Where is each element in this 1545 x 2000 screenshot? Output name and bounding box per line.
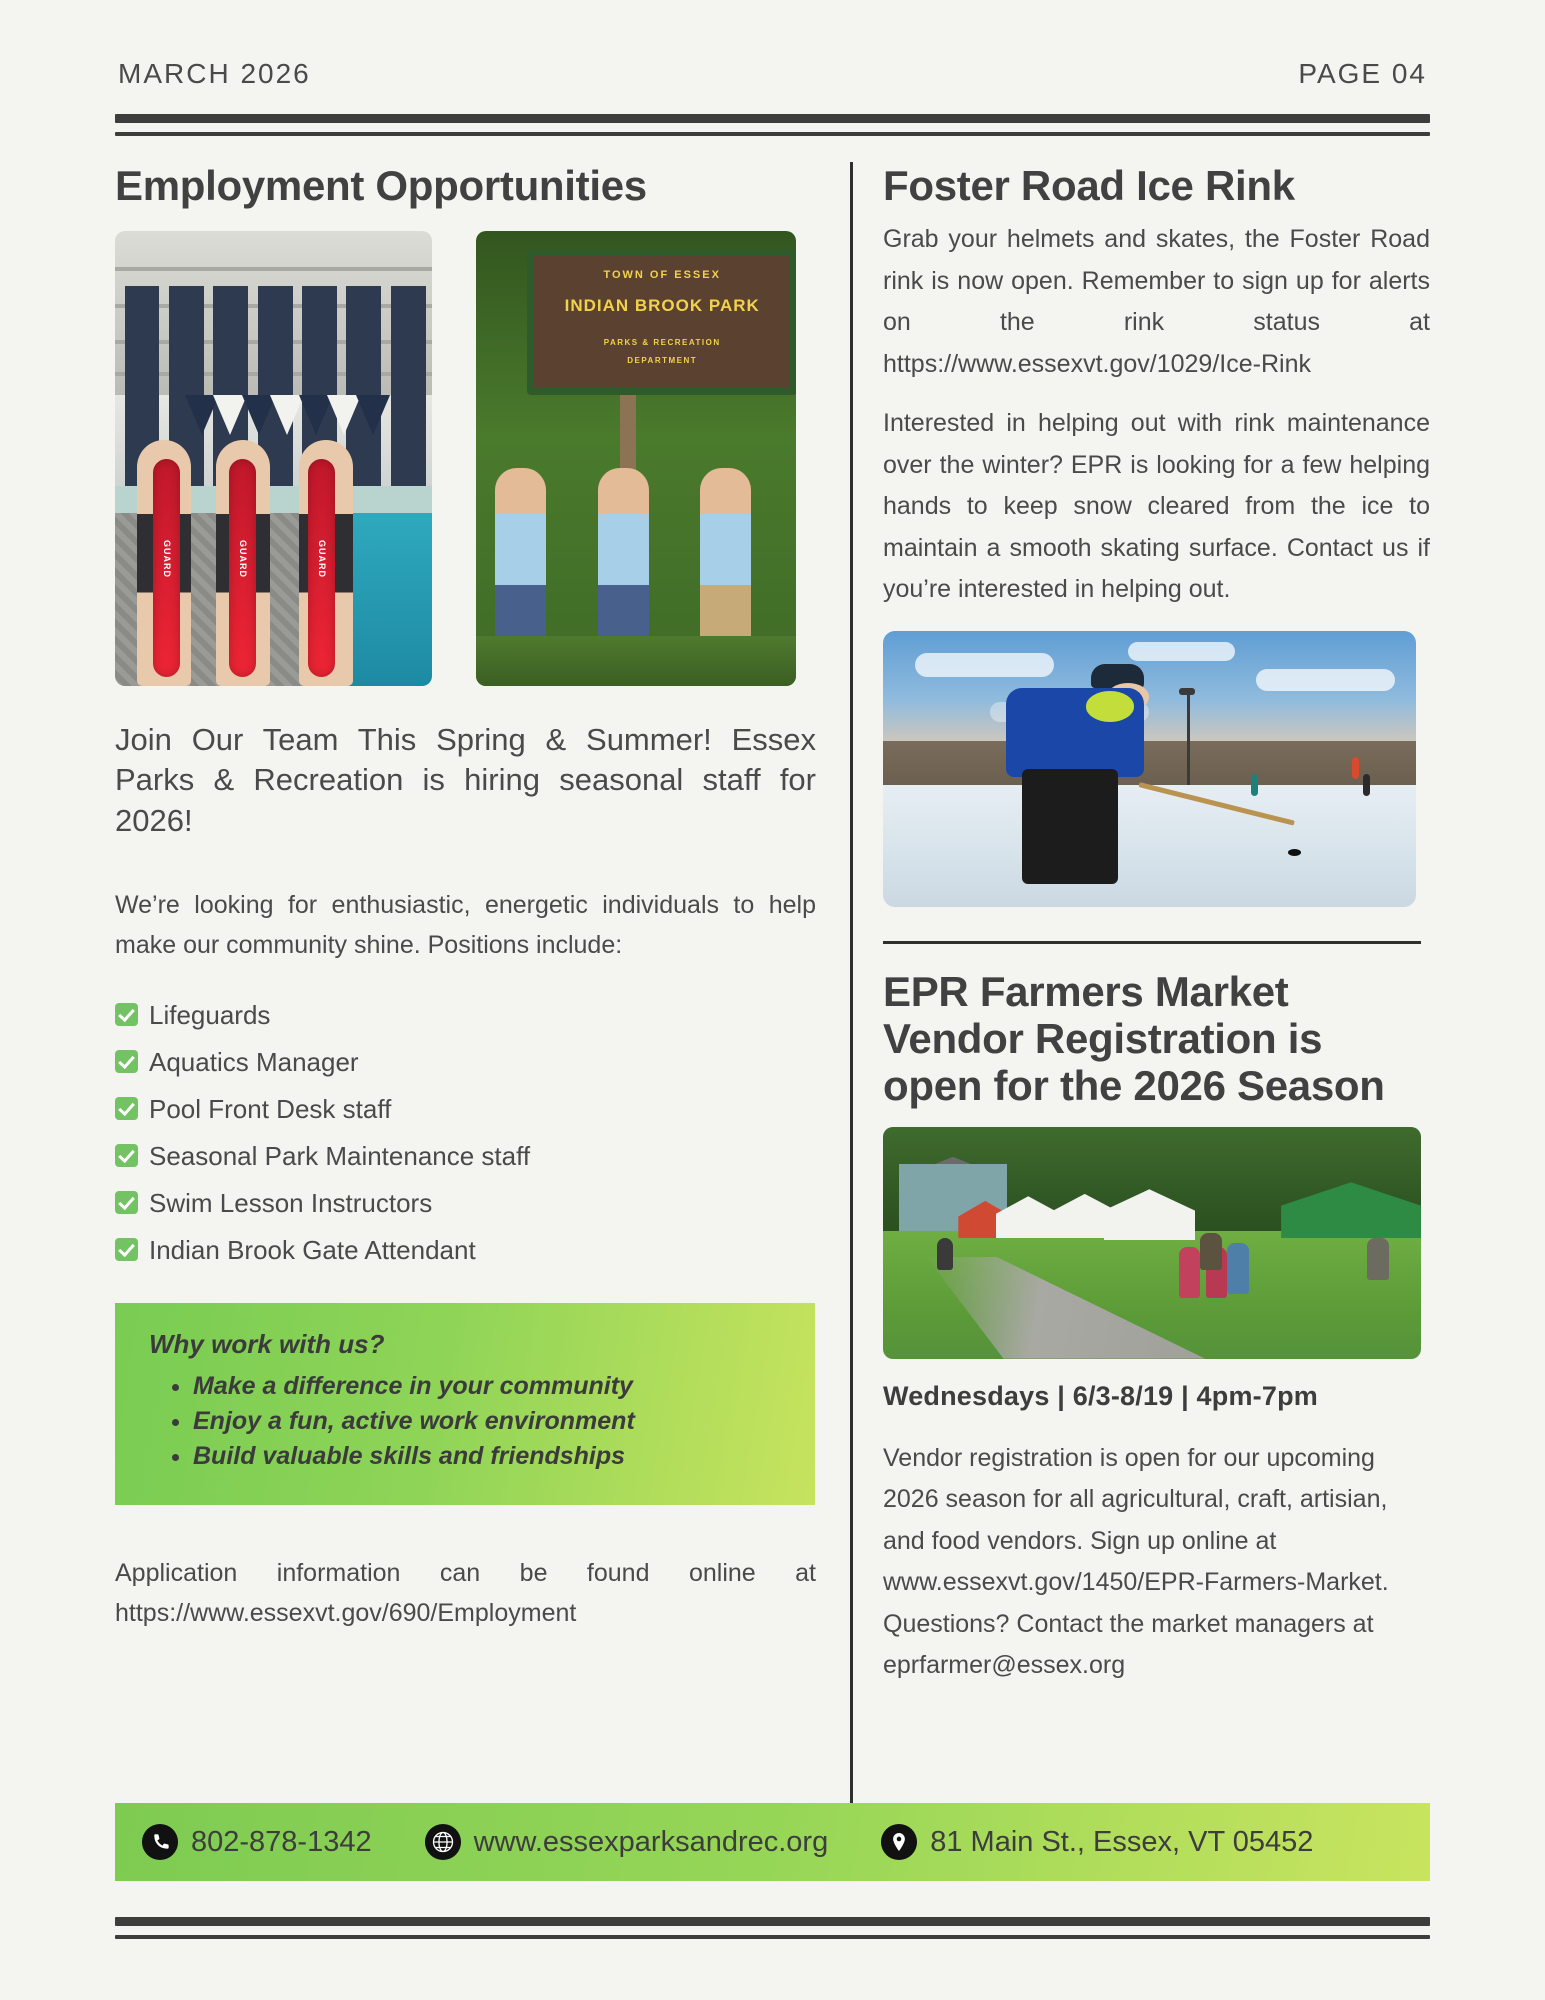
list-item: Build valuable skills and friendships [193,1439,781,1474]
position-label: Pool Front Desk staff [149,1096,391,1122]
employment-lead: Join Our Team This Spring & Summer! Esse… [115,720,816,841]
lifeguards-photo: GUARD GUARD GUARD [115,231,432,686]
list-item: Make a difference in your community [193,1369,781,1404]
employment-section-title: Employment Opportunities [115,162,816,209]
list-item: Indian Brook Gate Attendant [115,1237,816,1263]
ice-rink-photo [883,631,1416,907]
position-label: Swim Lesson Instructors [149,1190,432,1216]
position-label: Seasonal Park Maintenance staff [149,1143,530,1169]
why-work-with-us-callout: Why work with us? Make a difference in y… [115,1303,815,1505]
guard-tube-label: GUARD [238,540,248,578]
header-rule-thick [115,114,1430,123]
globe-icon [424,1823,462,1861]
phone-icon [141,1823,179,1861]
issue-date: MARCH 2026 [118,58,311,90]
check-icon [115,1097,138,1120]
footer-address[interactable]: 81 Main St., Essex, VT 05452 [880,1823,1313,1861]
footer-phone[interactable]: 802-878-1342 [141,1823,372,1861]
footer-website[interactable]: www.essexparksandrec.org [424,1823,829,1861]
park-sign-line-3: PARKS & RECREATION [534,338,790,347]
ice-rink-section-title: Foster Road Ice Rink [883,162,1430,209]
left-column: Employment Opportunities [115,162,850,1782]
check-icon [115,1050,138,1073]
park-sign-line-4: DEPARTMENT [534,356,790,365]
page-number: PAGE 04 [1298,58,1427,90]
footer-rule-thick [115,1917,1430,1926]
section-divider-rule [883,941,1421,944]
indian-brook-park-sign-photo: TOWN OF ESSEX INDIAN BROOK PARK PARKS & … [476,231,796,686]
position-label: Indian Brook Gate Attendant [149,1237,476,1263]
employment-photo-row: GUARD GUARD GUARD [115,231,816,686]
header-rule-group [115,114,1430,136]
masthead: MARCH 2026 PAGE 04 [115,0,1430,90]
check-icon [115,1003,138,1026]
check-icon [115,1238,138,1261]
employment-intro: We’re looking for enthusiastic, energeti… [115,885,816,966]
list-item: Enjoy a fun, active work environment [193,1404,781,1439]
position-label: Aquatics Manager [149,1049,359,1075]
footer-rule-thin [115,1935,1430,1939]
footer-rule-group [115,1917,1430,1939]
market-paragraph: Vendor registration is open for our upco… [883,1438,1430,1687]
ice-rink-paragraph-2: Interested in helping out with rink main… [883,403,1430,611]
list-item: Pool Front Desk staff [115,1096,816,1122]
footer-address-label: 81 Main St., Essex, VT 05452 [930,1826,1313,1859]
position-label: Lifeguards [149,1002,270,1028]
contact-footer-bar: 802-878-1342 www.essexparksandrec.org 81 [115,1803,1430,1881]
guard-tube-label: GUARD [162,540,172,578]
ice-rink-paragraph-1: Grab your helmets and skates, the Foster… [883,219,1430,385]
map-pin-icon [880,1823,918,1861]
list-item: Seasonal Park Maintenance staff [115,1143,816,1169]
header-rule-thin [115,132,1430,136]
check-icon [115,1191,138,1214]
right-column: Foster Road Ice Rink Grab your helmets a… [853,162,1430,1782]
application-info: Application information can be found onl… [115,1553,816,1634]
guard-tube-label: GUARD [317,540,327,578]
market-schedule: Wednesdays | 6/3-8/19 | 4pm-7pm [883,1381,1430,1412]
footer-website-label: www.essexparksandrec.org [474,1826,829,1859]
list-item: Swim Lesson Instructors [115,1190,816,1216]
list-item: Lifeguards [115,1002,816,1028]
list-item: Aquatics Manager [115,1049,816,1075]
farmers-market-section-title: EPR Farmers Market Vendor Registration i… [883,968,1430,1109]
positions-list: Lifeguards Aquatics Manager Pool Front D… [115,1002,816,1263]
park-sign-line-2: INDIAN BROOK PARK [534,296,790,316]
newsletter-page: MARCH 2026 PAGE 04 Employment Opportunit… [0,0,1545,2000]
callout-list: Make a difference in your community Enjo… [149,1369,781,1475]
content-columns: Employment Opportunities [115,162,1430,1782]
footer-phone-label: 802-878-1342 [191,1826,372,1859]
check-icon [115,1144,138,1167]
farmers-market-photo [883,1127,1421,1359]
callout-title: Why work with us? [149,1329,781,1360]
park-sign-line-1: TOWN OF ESSEX [534,269,790,281]
